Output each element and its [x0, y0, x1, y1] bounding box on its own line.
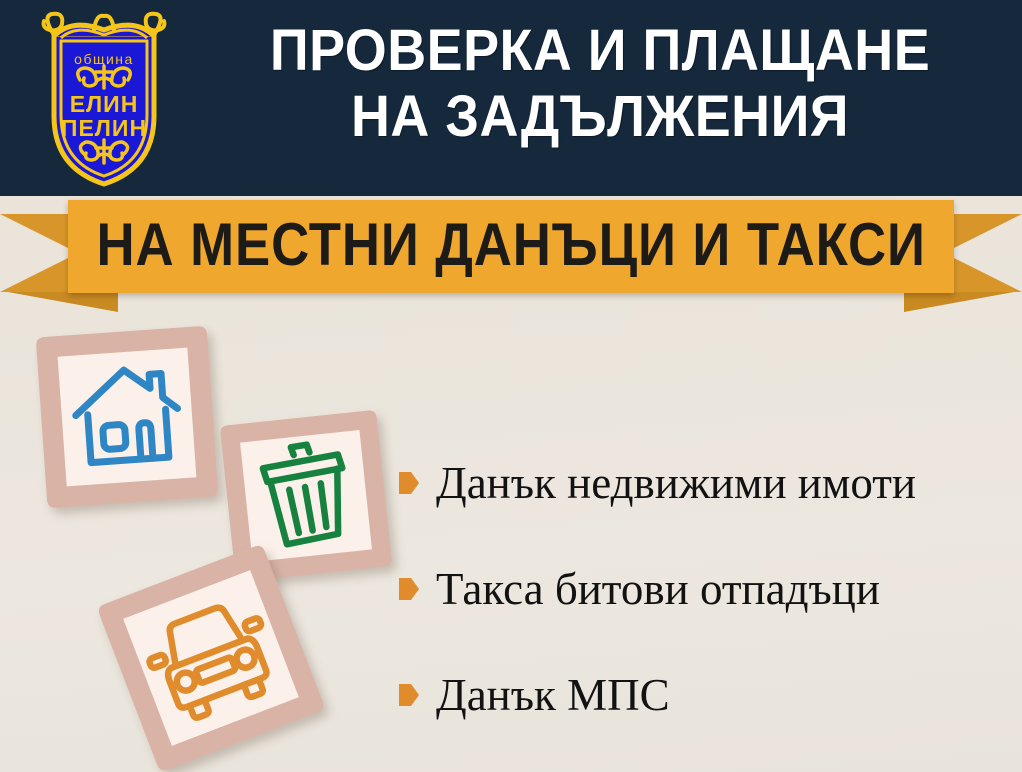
- svg-text:ПЕЛИН: ПЕЛИН: [61, 115, 147, 141]
- list-item-label: Данък МПС: [436, 670, 670, 720]
- ribbon-fold-right: [904, 292, 1014, 312]
- svg-text:ЕЛИН: ЕЛИН: [70, 91, 139, 117]
- list-item-label: Данък недвижими имоти: [436, 458, 916, 508]
- bullet-arrow-icon: [398, 576, 420, 602]
- bullet-arrow-icon: [398, 682, 420, 708]
- municipality-logo: община ЕЛИН ПЕЛИН: [24, 8, 184, 190]
- list-item[interactable]: Такса битови отпадъци: [398, 536, 1018, 642]
- stamp-card-house: [18, 308, 236, 526]
- tax-type-list: Данък недвижими имоти Такса битови отпад…: [398, 430, 1018, 748]
- list-item[interactable]: Данък МПС: [398, 642, 1018, 748]
- list-item-label: Такса битови отпадъци: [436, 564, 880, 614]
- header-bar: община ЕЛИН ПЕЛИН: [0, 0, 1022, 196]
- stamp-card-car: [86, 533, 336, 772]
- title-line-2: НА ЗАДЪЛЖЕНИЯ: [219, 84, 982, 150]
- subtitle-ribbon: НА МЕСТНИ ДАНЪЦИ И ТАКСИ: [0, 200, 1022, 300]
- title-line-1: ПРОВЕРКА И ПЛАЩАНЕ: [219, 18, 982, 84]
- ribbon-label: НА МЕСТНИ ДАНЪЦИ И ТАКСИ: [96, 215, 925, 279]
- bullet-arrow-icon: [398, 470, 420, 496]
- poster-canvas: община ЕЛИН ПЕЛИН: [0, 0, 1022, 772]
- list-item[interactable]: Данък недвижими имоти: [398, 430, 1018, 536]
- poster-title: ПРОВЕРКА И ПЛАЩАНЕ НА ЗАДЪЛЖЕНИЯ: [190, 18, 1010, 150]
- ribbon-banner: НА МЕСТНИ ДАНЪЦИ И ТАКСИ: [68, 200, 954, 293]
